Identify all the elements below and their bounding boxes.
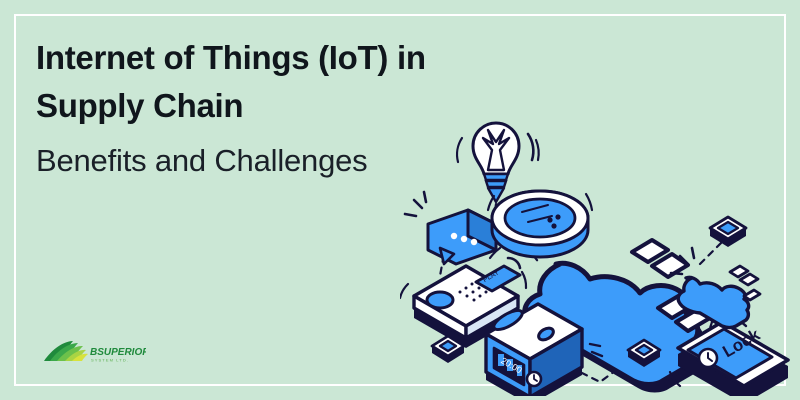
brand-logo[interactable]: BSUPERIOR SYSTEM LTD. <box>42 338 146 368</box>
node-chip-top-right-icon <box>710 217 746 247</box>
page-title-line-1: Internet of Things (IoT) in <box>36 34 506 82</box>
logo-brand-name: BSUPERIOR <box>90 347 146 358</box>
logo-mark-icon <box>44 341 88 361</box>
iot-illustration: PLAY <box>400 96 800 396</box>
logo-wordmark: BSUPERIOR SYSTEM LTD. <box>90 347 146 363</box>
iot-illustration-svg: PLAY <box>400 96 800 396</box>
chat-bubble-icon <box>405 192 496 264</box>
connector-node-to-minicloud <box>700 242 722 264</box>
banner-root: Internet of Things (IoT) in Supply Chain… <box>0 0 800 400</box>
smart-speaker-disc-icon <box>488 191 592 258</box>
logo-brand-tagline: SYSTEM LTD. <box>91 358 129 363</box>
lightbulb-icon <box>457 123 539 202</box>
brand-logo-svg: BSUPERIOR SYSTEM LTD. <box>42 338 146 368</box>
